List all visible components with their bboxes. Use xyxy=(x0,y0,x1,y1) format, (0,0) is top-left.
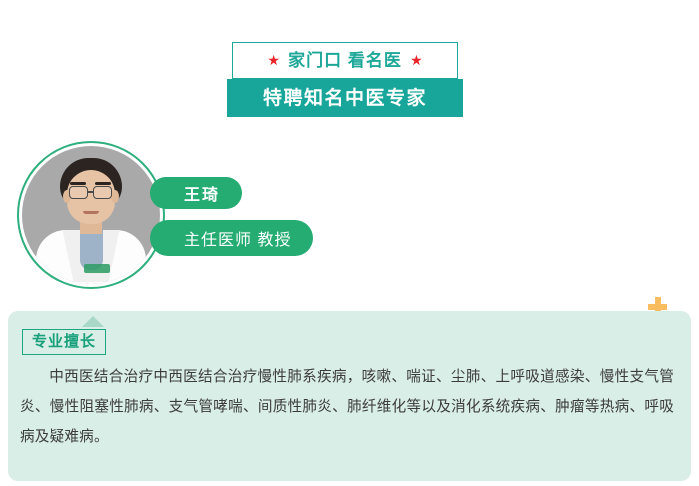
specialty-tag: 专业擅长 xyxy=(22,329,106,355)
portrait-badge-logo xyxy=(84,264,110,273)
panel-pointer-triangle-icon xyxy=(82,316,104,327)
avatar xyxy=(17,141,165,289)
doctor-profile-card: ★ 家门口 看名医 ★ 特聘知名中医专家 xyxy=(0,0,699,486)
portrait-ear-right xyxy=(111,190,119,203)
doctor-title-label: 主任医师 教授 xyxy=(184,226,291,250)
doctor-name-label: 王琦 xyxy=(184,181,220,205)
header-title-band: 特聘知名中医专家 xyxy=(227,79,463,117)
star-left-icon: ★ xyxy=(267,54,280,67)
doctor-title-badge: 主任医师 教授 xyxy=(150,220,313,256)
portrait-brow-right xyxy=(95,182,111,185)
portrait-glasses-bridge xyxy=(88,191,93,193)
portrait-mouth xyxy=(83,211,99,214)
slogan-box: ★ 家门口 看名医 ★ xyxy=(232,42,458,79)
avatar-portrait-image xyxy=(22,146,160,284)
specialty-description: 中西医结合治疗中西医结合治疗慢性肺系疾病，咳嗽、喘证、尘肺、上呼吸道感染、慢性支… xyxy=(20,362,674,452)
portrait-glasses-left-lens xyxy=(69,186,88,199)
portrait-brow-left xyxy=(70,182,86,185)
header-band-title: 特聘知名中医专家 xyxy=(263,89,427,108)
star-right-icon: ★ xyxy=(410,54,423,67)
portrait-glasses-right-lens xyxy=(93,186,112,199)
doctor-name-badge: 王琦 xyxy=(150,177,242,209)
header-banner: ★ 家门口 看名医 ★ 特聘知名中医专家 xyxy=(0,42,699,120)
slogan-text: 家门口 看名医 xyxy=(288,52,402,69)
